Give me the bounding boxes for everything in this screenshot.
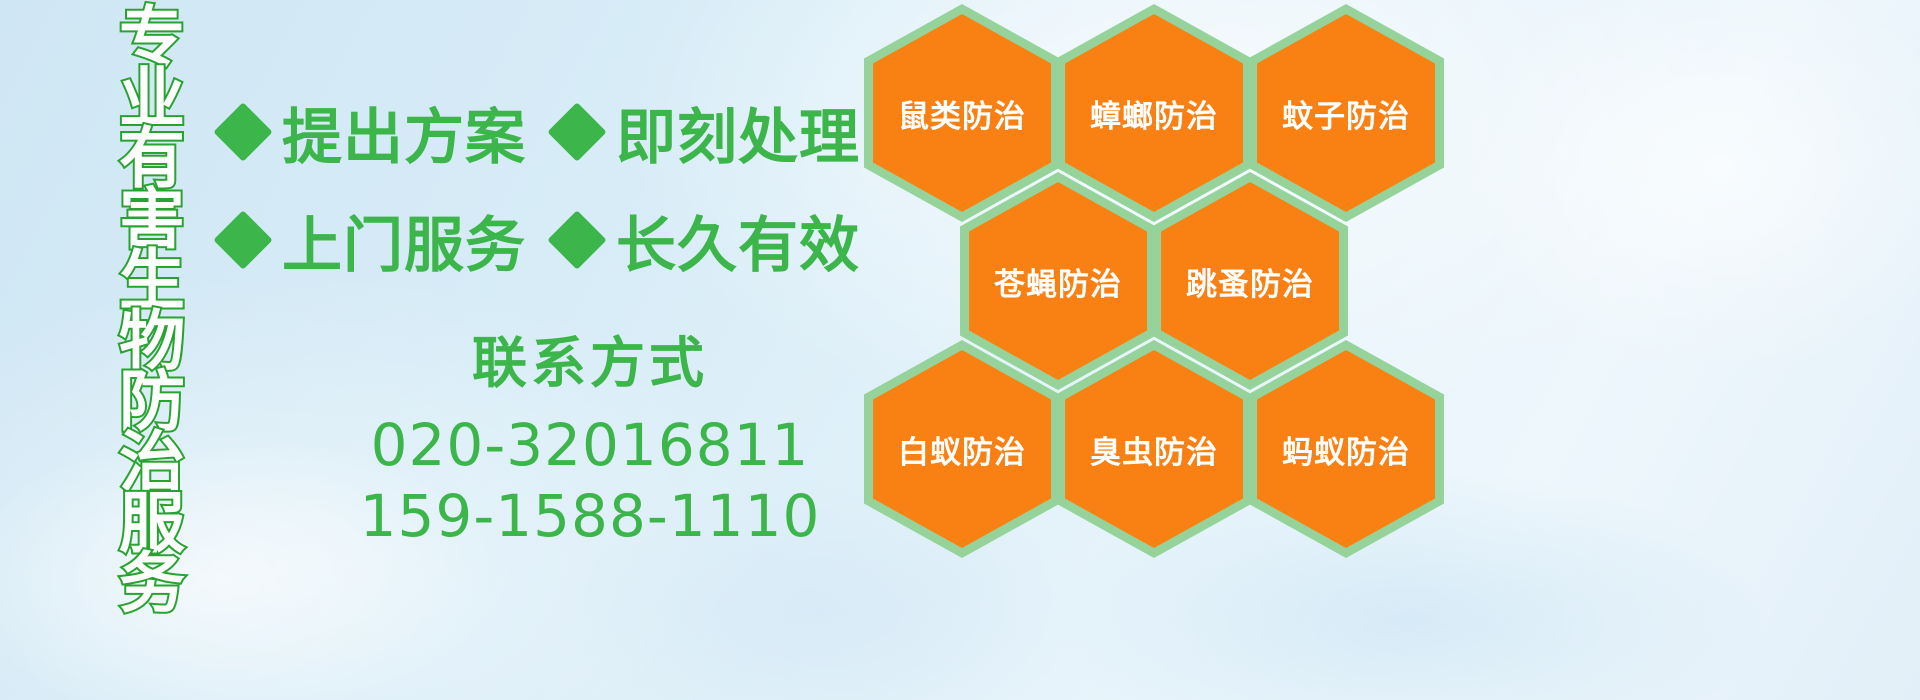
hex-label: 白蚁防治	[898, 427, 1026, 472]
feature-list: 提出方案 即刻处理 上门服务 长久有效	[222, 78, 882, 294]
service-honeycomb: 鼠类防治 蟑螂防治 蚊子防治 苍蝇防治 跳蚤防治 白蚁防治	[858, 0, 1458, 590]
feature-item-long-lasting: 长久有效	[556, 197, 860, 284]
hex-cell-ant-control[interactable]: 蚂蚁防治	[1248, 340, 1444, 558]
feature-label: 长久有效	[616, 197, 860, 284]
hex-label: 蚊子防治	[1282, 91, 1410, 136]
hex-label: 跳蚤防治	[1186, 259, 1314, 304]
contact-title: 联系方式	[300, 318, 880, 398]
feature-label: 即刻处理	[616, 89, 860, 176]
feature-label: 提出方案	[282, 89, 526, 176]
hex-label: 苍蝇防治	[994, 259, 1122, 304]
contact-block: 联系方式 020-32016811 159-1588-1110	[300, 318, 880, 552]
hex-cell-bedbug-control[interactable]: 臭虫防治	[1056, 340, 1252, 558]
vertical-slogan: 专 业 有 害 生 物 防 治 服 务	[104, 8, 200, 568]
diamond-bullet-icon	[213, 102, 272, 161]
diamond-bullet-icon	[213, 210, 272, 269]
feature-item-immediate-handling: 即刻处理	[556, 89, 860, 176]
hex-cell-termite-control[interactable]: 白蚁防治	[864, 340, 1060, 558]
diamond-bullet-icon	[547, 210, 606, 269]
hex-label: 蚂蚁防治	[1282, 427, 1410, 472]
hex-label: 臭虫防治	[1090, 427, 1218, 472]
feature-row: 上门服务 长久有效	[222, 186, 882, 294]
hex-label: 蟑螂防治	[1090, 91, 1218, 136]
background-glow-topright	[1450, 0, 1920, 380]
feature-row: 提出方案 即刻处理	[222, 78, 882, 186]
feature-item-onsite-service: 上门服务	[222, 197, 526, 284]
promo-banner: 专 业 有 害 生 物 防 治 服 务 提出方案 即刻处理 上门服务	[0, 0, 1920, 700]
feature-label: 上门服务	[282, 197, 526, 284]
hex-label: 鼠类防治	[898, 91, 1026, 136]
diamond-bullet-icon	[547, 102, 606, 161]
vertical-slogan-char: 务	[119, 554, 185, 615]
contact-phone-secondary[interactable]: 159-1588-1110	[300, 481, 880, 552]
feature-item-propose-plan: 提出方案	[222, 89, 526, 176]
contact-phone-primary[interactable]: 020-32016811	[300, 410, 880, 481]
